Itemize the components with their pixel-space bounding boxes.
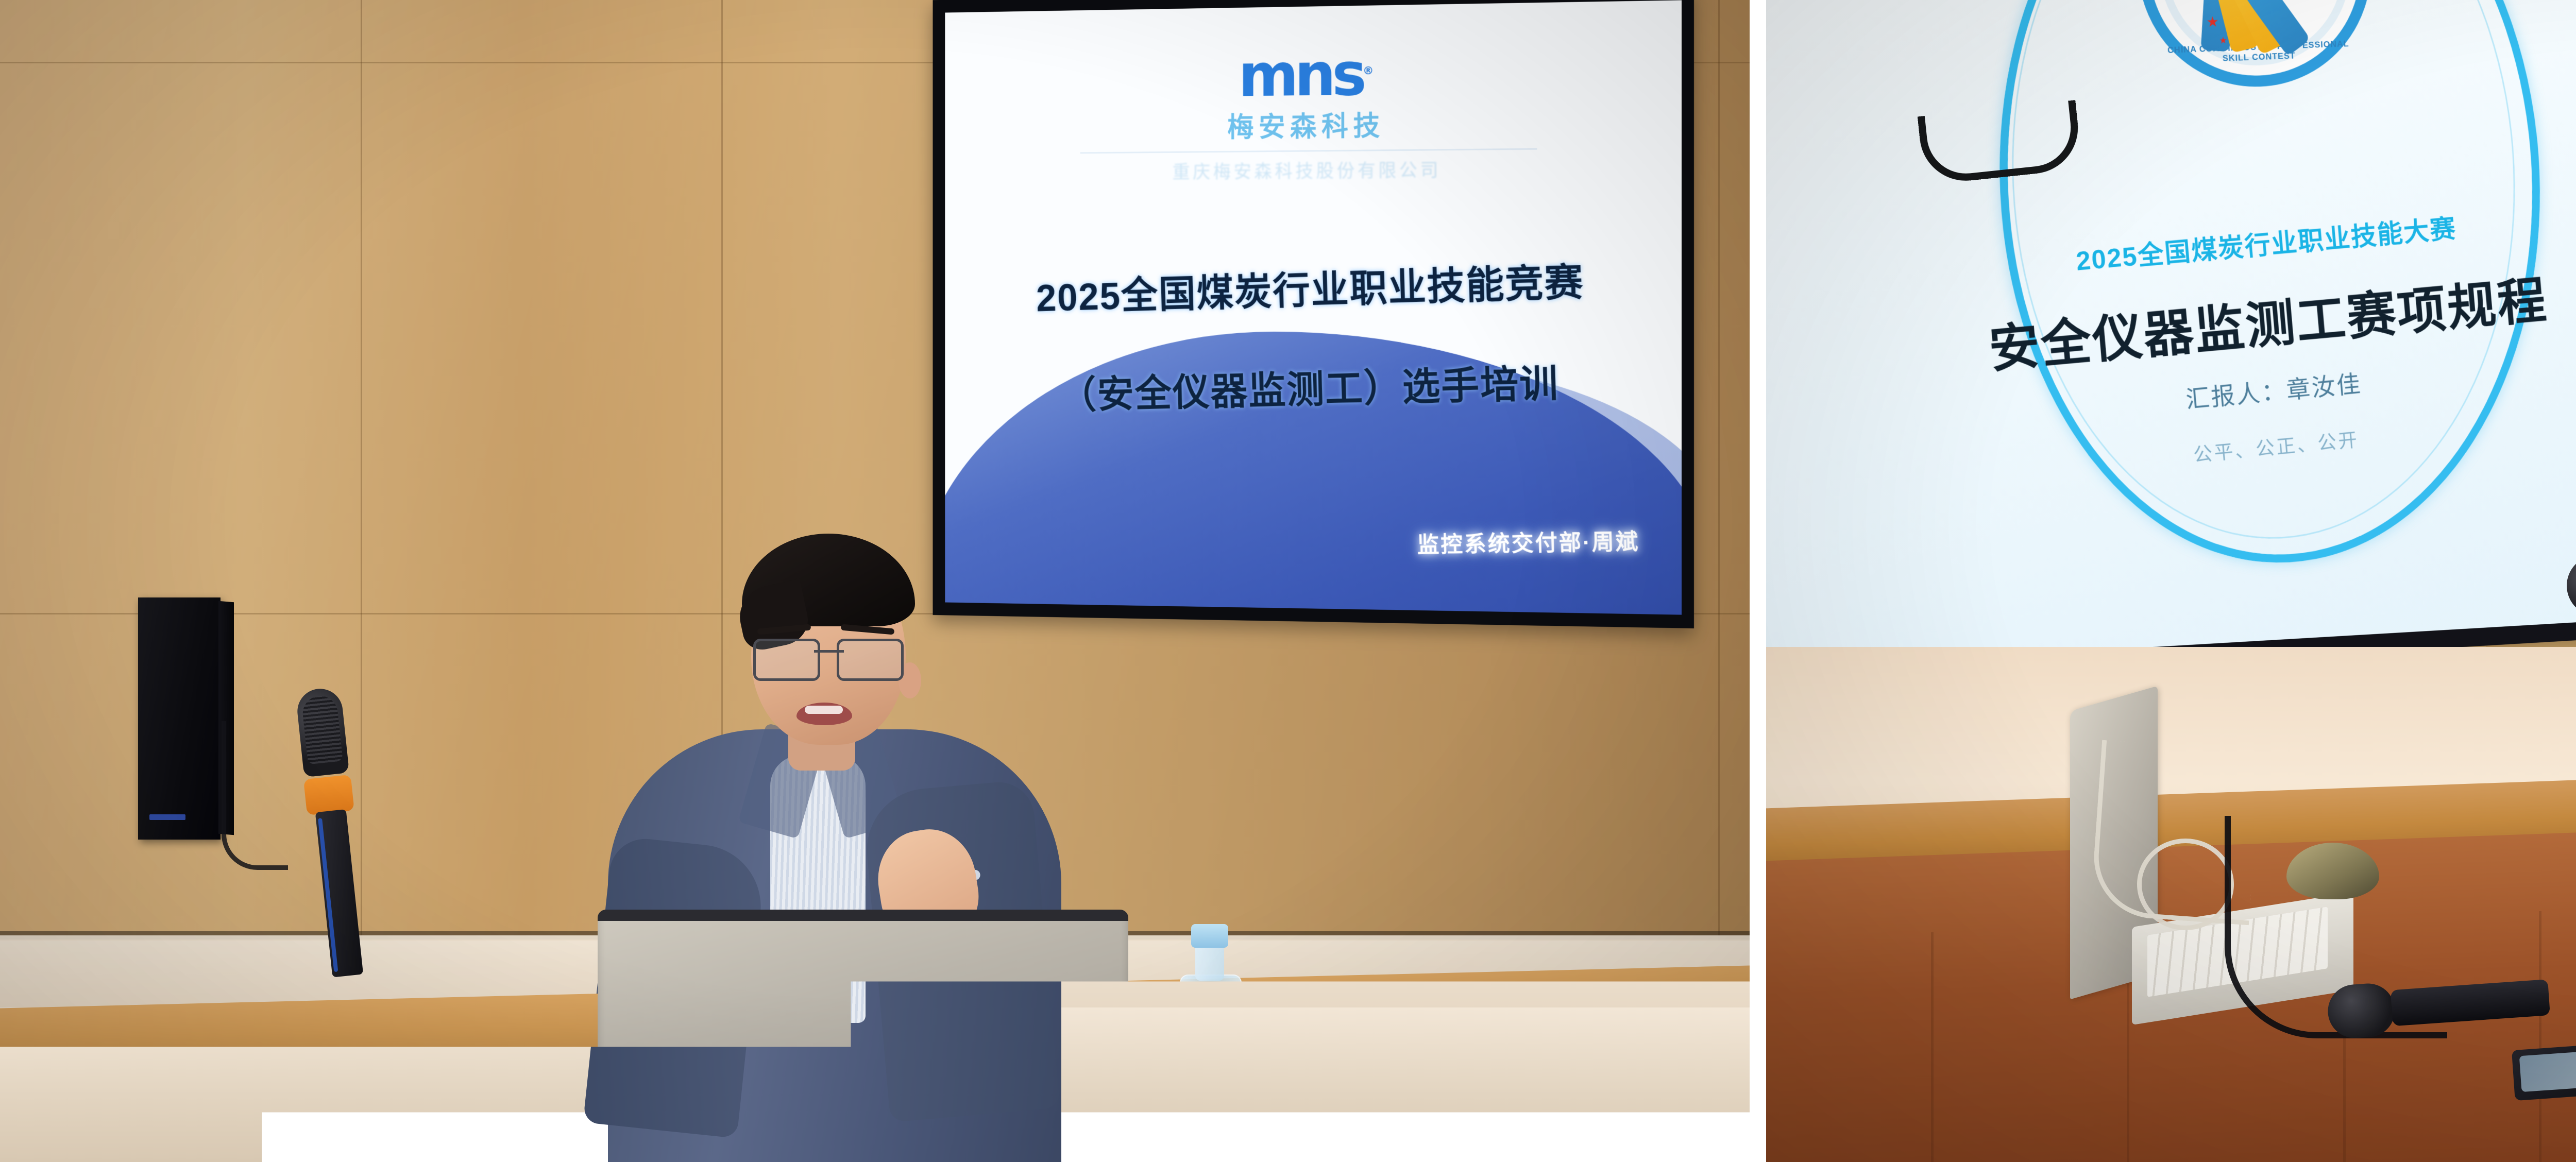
floor-cable xyxy=(222,721,288,870)
slide-byline: 监控系统交付部·周斌 xyxy=(1417,523,1640,559)
slide-title-line1: 2025全国煤炭行业职业技能竞赛 xyxy=(945,248,1682,325)
emblem-ring: 全国煤炭行业职业技能大赛 CHINA COAL INDUSTRY PROFESS… xyxy=(2133,0,2376,91)
laptop-cable-loop xyxy=(2137,839,2234,930)
emblem-star: ★ xyxy=(2206,13,2219,30)
company-full-name: 重庆梅安森科技股份有限公司 xyxy=(945,153,1682,185)
speaker-logo-badge xyxy=(149,814,185,820)
mic-grille xyxy=(2326,982,2397,1040)
mns-logo-mark: mns® xyxy=(1238,45,1374,104)
bottle-brand-cn: 阿尔卑斯 xyxy=(1183,1084,1239,1100)
projection-screen: 全国煤炭行业职业技能大赛 CHINA COAL INDUSTRY PROFESS… xyxy=(1766,0,2576,690)
bottle-label: ALPS 阿尔卑斯 净含量:380mL xyxy=(1183,1060,1239,1118)
bottle-volume: 净含量:380mL xyxy=(1183,1103,1239,1114)
photo-pair-canvas: mns® 梅安森科技 重庆梅安森科技股份有限公司 2025全国煤炭行业职业技能竞… xyxy=(0,0,2576,1162)
dell-logo-text: DELL xyxy=(836,1051,900,1115)
skirt-fold xyxy=(2539,911,2541,1162)
bottle-brand-en: ALPS xyxy=(1183,1070,1239,1084)
logo-divider xyxy=(1080,148,1537,154)
mic-foam-ring xyxy=(303,775,354,815)
bottle-body: ALPS 阿尔卑斯 净含量:380mL xyxy=(1180,975,1242,1147)
mic-grille xyxy=(295,687,349,777)
phone-screen xyxy=(2519,1046,2576,1092)
photo-gutter xyxy=(1750,0,1766,1162)
bottle-neck xyxy=(1195,944,1224,981)
left-photo: mns® 梅安森科技 重庆梅安森科技股份有限公司 2025全国煤炭行业职业技能竞… xyxy=(0,0,1750,1162)
mic-handle xyxy=(2391,979,2550,1026)
company-name-cn: 梅安森科技 xyxy=(945,100,1682,147)
eyeglasses-icon xyxy=(753,639,904,678)
mic-mesh xyxy=(301,694,343,764)
conference-microphone-icon xyxy=(2570,539,2576,1147)
mouth xyxy=(796,703,852,725)
emblem-core: ★ ★ ★ ★ ★ xyxy=(2191,0,2320,52)
slide-right: 全国煤炭行业职业技能大赛 CHINA COAL INDUSTRY PROFESS… xyxy=(1766,0,2576,670)
logo-mark-text: mns xyxy=(1238,39,1363,110)
lens-left xyxy=(753,639,820,681)
glasses-bridge xyxy=(814,650,844,653)
dell-logo-icon: DELL xyxy=(831,1046,904,1119)
laptop-hinge-edge xyxy=(598,910,1128,921)
right-photo: 全国煤炭行业职业技能大赛 CHINA COAL INDUSTRY PROFESS… xyxy=(1766,0,2576,1162)
mouse-cable-loop xyxy=(113,1100,304,1162)
screen-surface: 全国煤炭行业职业技能大赛 CHINA COAL INDUSTRY PROFESS… xyxy=(1766,0,2576,670)
skirt-fold xyxy=(1931,932,1934,1162)
emblem-star: ★ xyxy=(2219,35,2227,46)
bottle-cap xyxy=(1191,924,1228,948)
laptop xyxy=(2070,698,2348,1007)
lens-right xyxy=(837,639,904,681)
registered-mark: ® xyxy=(1363,64,1374,77)
wall-speaker-icon xyxy=(138,597,221,840)
water-bottle: ALPS 阿尔卑斯 净含量:380mL xyxy=(1180,925,1240,1147)
company-logo-block: mns® 梅安森科技 重庆梅安森科技股份有限公司 xyxy=(945,41,1682,185)
contest-emblem-icon: 全国煤炭行业职业技能大赛 CHINA COAL INDUSTRY PROFESS… xyxy=(2133,0,2376,91)
